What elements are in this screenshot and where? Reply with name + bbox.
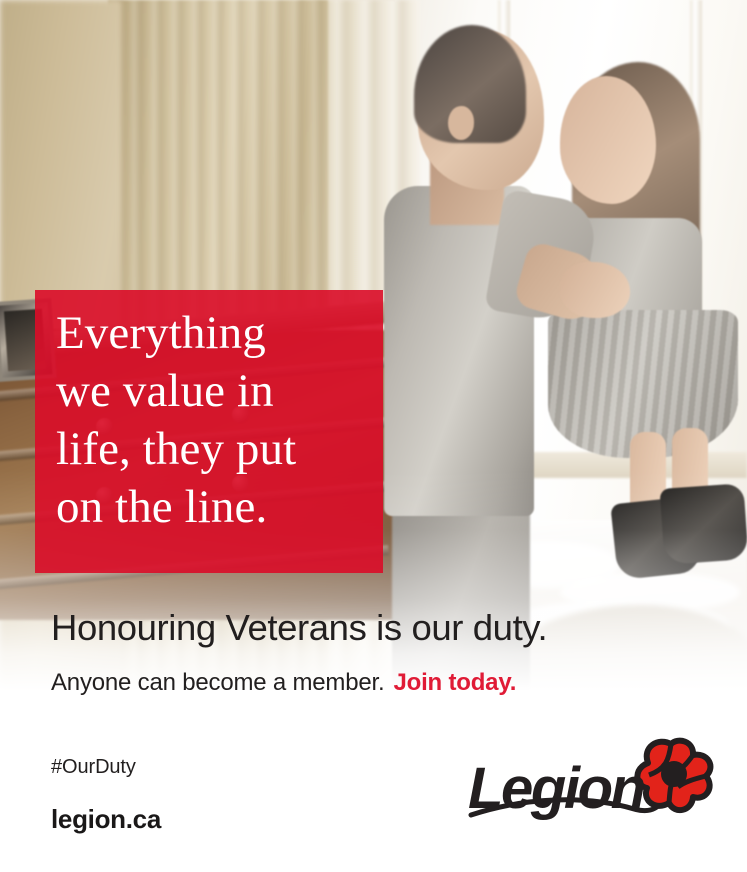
man-ear	[448, 106, 474, 140]
legion-logo[interactable]: Legion	[466, 735, 718, 831]
legion-advertisement: Everything we value in life, they put on…	[0, 0, 747, 872]
headline-text: Everything we value in life, they put on…	[56, 304, 375, 536]
membership-line: Anyone can become a member.Join today.	[51, 668, 516, 698]
headline-red-box: Everything we value in life, they put on…	[35, 290, 383, 573]
legion-wordmark: Legion	[468, 755, 644, 822]
girl-boot	[659, 483, 747, 565]
poppy-center-icon	[661, 761, 687, 787]
hashtag: #OurDuty	[51, 756, 136, 779]
join-today-link[interactable]: Join today.	[393, 669, 516, 696]
poppy-icon	[637, 741, 710, 810]
membership-text: Anyone can become a member.	[51, 669, 384, 696]
man-hand	[560, 262, 630, 318]
website-url[interactable]: legion.ca	[51, 804, 161, 835]
tagline: Honouring Veterans is our duty.	[51, 606, 547, 650]
